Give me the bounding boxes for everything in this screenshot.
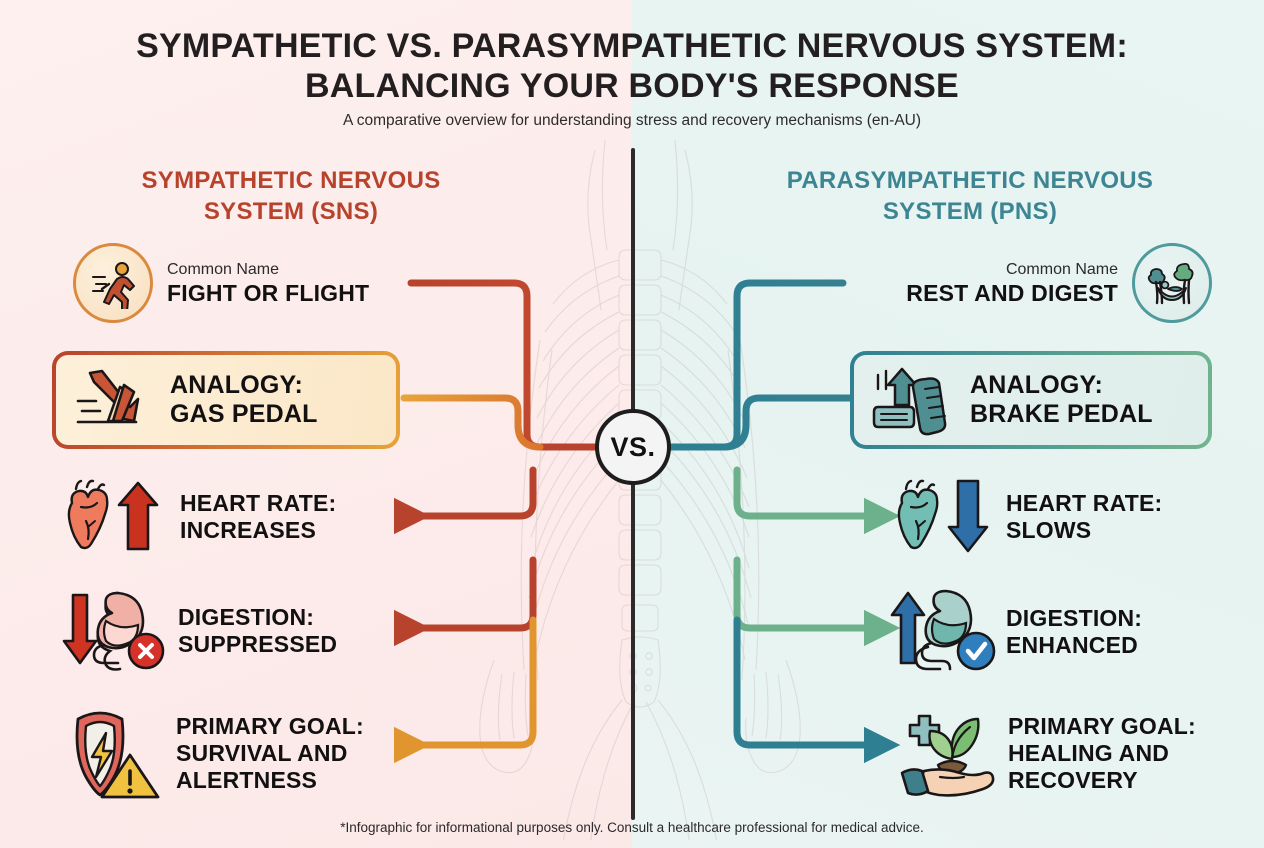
sns-common-name-value: FIGHT OR FLIGHT — [167, 280, 369, 307]
pns-primary-goal-line2: HEALING AND — [1008, 740, 1196, 767]
running-person-icon — [73, 243, 153, 323]
sns-primary-goal-line1: PRIMARY GOAL: — [176, 713, 364, 740]
gas-pedal-icon — [68, 365, 154, 435]
sns-heart-rate-row: HEART RATE: INCREASES — [60, 478, 400, 556]
sns-digestion-line2: SUPPRESSED — [178, 631, 337, 658]
pns-analogy-line2: BRAKE PEDAL — [970, 400, 1153, 429]
pns-heart-rate-line2: SLOWS — [1006, 517, 1162, 544]
stomach-up-arrow-check-icon — [884, 589, 1000, 675]
sns-common-name-row: Common Name FIGHT OR FLIGHT — [73, 243, 473, 323]
pns-primary-goal-line1: PRIMARY GOAL: — [1008, 713, 1196, 740]
brake-pedal-icon — [866, 363, 952, 437]
pns-common-name-label: Common Name — [906, 260, 1118, 280]
sns-digestion-line1: DIGESTION: — [178, 604, 337, 631]
hand-plant-cross-icon — [890, 703, 1000, 803]
pns-heart-rate-line1: HEART RATE: — [1006, 490, 1162, 517]
sns-primary-goal-line2: SURVIVAL AND — [176, 740, 364, 767]
sns-heart-rate-line2: INCREASES — [180, 517, 336, 544]
pns-digestion-line1: DIGESTION: — [1006, 605, 1142, 632]
pns-primary-goal-row: PRIMARY GOAL: HEALING AND RECOVERY — [890, 700, 1250, 806]
sns-analogy-line2: GAS PEDAL — [170, 400, 318, 429]
pns-primary-goal-line3: RECOVERY — [1008, 767, 1196, 794]
infographic-canvas: SYMPATHETIC VS. PARASYMPATHETIC NERVOUS … — [0, 0, 1264, 848]
pns-digestion-row: DIGESTION: ENHANCED — [884, 592, 1224, 672]
pns-digestion-line2: ENHANCED — [1006, 632, 1142, 659]
sns-primary-goal-row: PRIMARY GOAL: SURVIVAL AND ALERTNESS — [60, 700, 420, 806]
sns-analogy-line1: ANALOGY: — [170, 371, 318, 400]
heart-down-arrow-icon — [890, 477, 996, 557]
stomach-down-arrow-cross-icon — [56, 589, 172, 673]
pns-common-name-row: Common Name REST AND DIGEST — [852, 243, 1212, 323]
pns-common-name-value: REST AND DIGEST — [906, 280, 1118, 307]
sns-analogy-box: ANALOGY: GAS PEDAL — [52, 351, 400, 449]
pns-heart-rate-row: HEART RATE: SLOWS — [890, 478, 1230, 556]
sns-digestion-row: DIGESTION: SUPPRESSED — [56, 592, 396, 670]
sns-primary-goal-line3: ALERTNESS — [176, 767, 364, 794]
hammock-trees-icon — [1132, 243, 1212, 323]
shield-bolt-warning-icon — [60, 703, 168, 803]
sns-common-name-label: Common Name — [167, 260, 369, 280]
disclaimer-footnote: *Infographic for informational purposes … — [0, 820, 1264, 835]
sns-heart-rate-line1: HEART RATE: — [180, 490, 336, 517]
versus-badge: VS. — [595, 409, 671, 485]
pns-analogy-line1: ANALOGY: — [970, 371, 1153, 400]
heart-up-arrow-icon — [60, 477, 170, 557]
pns-analogy-box: ANALOGY: BRAKE PEDAL — [850, 351, 1212, 449]
